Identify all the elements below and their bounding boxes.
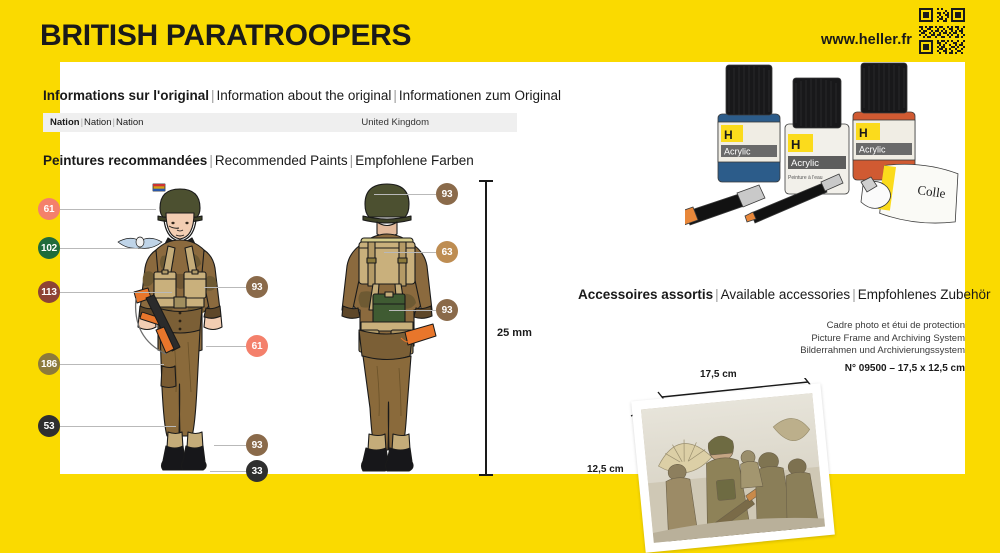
paint-callout-63[interactable]: 63: [436, 241, 458, 263]
page-title: BRITISH PARATROOPERS: [40, 19, 411, 53]
accessory-description: Cadre photo et étui de protection Pictur…: [800, 320, 965, 358]
dimension-height-label: 12,5 cm: [587, 464, 624, 475]
heading-paints-fr: Peintures recommandées: [43, 153, 207, 168]
heading-original-de: Informationen zum Original: [399, 88, 561, 103]
leader-line: [210, 471, 246, 472]
section-heading-paints: Peintures recommandées|Recommended Paint…: [43, 153, 474, 168]
leader-line: [389, 310, 436, 311]
website-url[interactable]: www.heller.fr: [821, 32, 912, 48]
heading-separator: |: [207, 153, 215, 168]
parachute-wings-badge: [118, 237, 162, 248]
heading-separator: |: [850, 287, 858, 302]
scale-bar-cap-bottom: [479, 474, 493, 476]
paint-callout-93-right-pouch[interactable]: 93: [436, 299, 458, 321]
heading-separator: |: [713, 287, 721, 302]
paint-callout-93-right-helmet[interactable]: 93: [436, 183, 458, 205]
nation-label-de: Nation: [116, 117, 143, 128]
leader-line: [206, 346, 246, 347]
paint-callout-93-mid-lower[interactable]: 93: [246, 434, 268, 456]
svg-text:H: H: [724, 128, 733, 142]
accessory-line-en: Picture Frame and Archiving System: [800, 333, 965, 346]
leader-line: [60, 248, 138, 249]
heading-original-en: Information about the original: [217, 88, 392, 103]
qr-code-icon[interactable]: [919, 8, 965, 54]
leader-line: [374, 194, 436, 195]
svg-text:Peinture à l'eau: Peinture à l'eau: [788, 175, 823, 181]
heading-accessories-fr: Accessoires assortis: [578, 287, 713, 302]
nation-label-en: Nation: [84, 117, 111, 128]
accessory-reference: N° 09500 – 17,5 x 12,5 cm: [845, 363, 965, 374]
nation-label-fr: Nation: [50, 117, 80, 128]
svg-text:Acrylic: Acrylic: [859, 145, 886, 155]
nation-value: United Kingdom: [361, 117, 429, 128]
figure-area: 61 102 113 186 53 93 61 93 33 93: [34, 180, 534, 480]
accessory-line-fr: Cadre photo et étui de protection: [800, 320, 965, 333]
paratrooper-front-illustration: [112, 180, 252, 480]
photo-image: [641, 393, 825, 543]
heading-separator: |: [209, 88, 217, 103]
leader-line: [204, 287, 246, 288]
nation-row: Nation|Nation|Nation United Kingdom: [43, 113, 517, 132]
paint-callout-93-mid-upper[interactable]: 93: [246, 276, 268, 298]
heading-accessories-de: Empfohlenes Zubehör: [858, 287, 991, 302]
paratrooper-rear-illustration: [319, 180, 459, 480]
leader-line: [60, 292, 172, 293]
paint-callout-186[interactable]: 186: [38, 353, 60, 375]
scale-bar-line: [485, 180, 487, 476]
svg-text:Acrylic: Acrylic: [791, 158, 819, 169]
paint-callout-113[interactable]: 113: [38, 281, 60, 303]
paint-callout-102[interactable]: 102: [38, 237, 60, 259]
paint-callout-53[interactable]: 53: [38, 415, 60, 437]
svg-text:Acrylic: Acrylic: [724, 147, 751, 157]
leader-line: [60, 426, 176, 427]
svg-text:H: H: [859, 126, 868, 140]
section-heading-accessories: Accessoires assortis|Available accessori…: [578, 287, 991, 302]
leader-line: [384, 252, 436, 253]
heading-paints-de: Empfohlene Farben: [355, 153, 474, 168]
picture-frame-photo: [631, 383, 835, 553]
heading-separator: |: [391, 88, 399, 103]
svg-text:H: H: [791, 137, 800, 152]
header-band: BRITISH PARATROOPERS www.heller.fr: [0, 0, 1000, 64]
paint-bottles-photo: H Acrylic H Acrylic: [685, 62, 965, 237]
heading-accessories-en: Available accessories: [721, 287, 851, 302]
leader-line: [60, 209, 156, 210]
accessory-line-de: Bilderrahmen und Archivierungssystem: [800, 345, 965, 358]
heading-original-fr: Informations sur l'original: [43, 88, 209, 103]
nation-label-group: Nation|Nation|Nation: [50, 117, 143, 128]
page-root: BRITISH PARATROOPERS www.heller.fr: [0, 0, 1000, 532]
leader-line: [214, 445, 246, 446]
paint-callout-61-mid[interactable]: 61: [246, 335, 268, 357]
heading-paints-en: Recommended Paints: [215, 153, 348, 168]
scale-label: 25 mm: [497, 327, 532, 339]
leader-line: [60, 364, 164, 365]
scale-bar-cap-top: [479, 180, 493, 182]
section-heading-original: Informations sur l'original|Information …: [43, 88, 561, 103]
paint-callout-33[interactable]: 33: [246, 460, 268, 482]
paint-callout-61-left[interactable]: 61: [38, 198, 60, 220]
